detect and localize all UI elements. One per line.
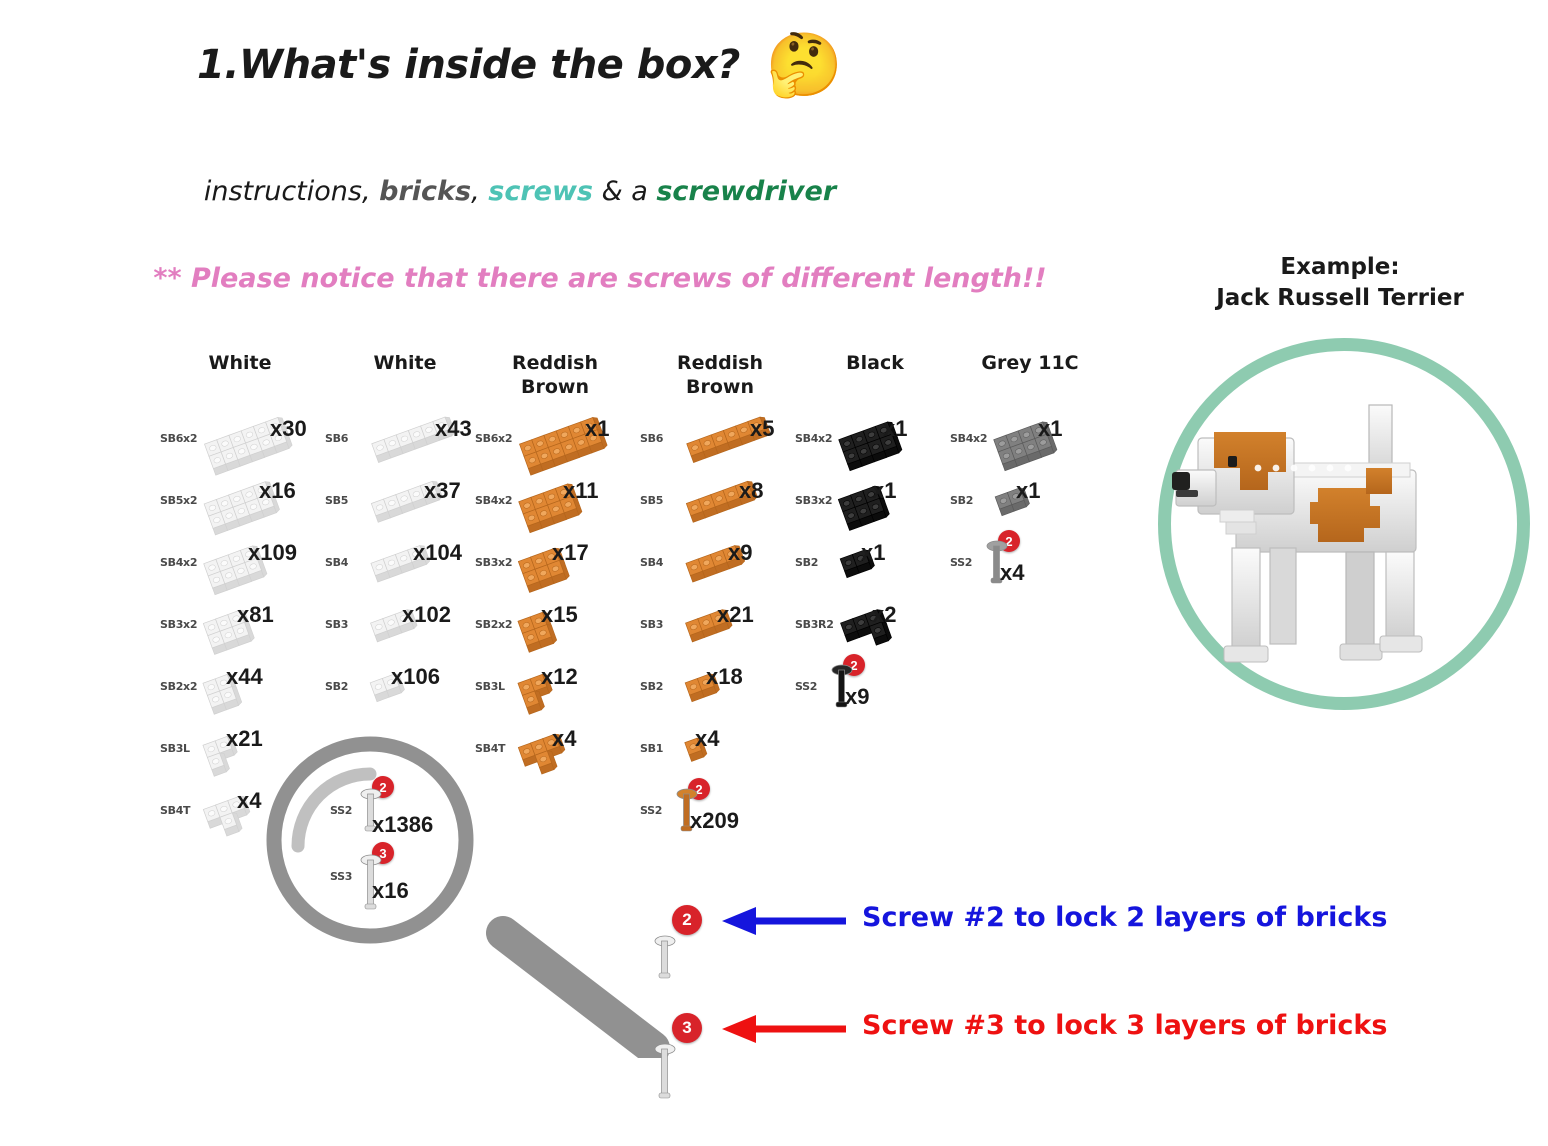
column-header-6: Grey 11C — [940, 352, 1120, 376]
title-row: 1.What's inside the box? 🤔 — [0, 34, 1040, 96]
part-quantity: x2 — [872, 602, 896, 628]
part-quantity: x30 — [270, 416, 307, 442]
column-header-1: White — [150, 352, 330, 376]
part-quantity: x4 — [552, 726, 576, 752]
part-code: SB3L — [475, 680, 505, 693]
column-header-3: Reddish Brown — [465, 352, 645, 400]
legend-badge: 2 — [672, 905, 702, 935]
part-quantity: x104 — [413, 540, 462, 566]
part-quantity: x102 — [402, 602, 451, 628]
legend-badge: 3 — [672, 1013, 702, 1043]
part-quantity: x21 — [717, 602, 754, 628]
part-quantity: x9 — [728, 540, 752, 566]
part-quantity: x43 — [435, 416, 472, 442]
part-code: SB6 — [325, 432, 348, 445]
part-quantity: x4 — [1000, 560, 1024, 586]
legend-arrow-icon — [718, 1015, 848, 1050]
part-quantity: x5 — [750, 416, 774, 442]
part-quantity: x4 — [237, 788, 261, 814]
part-quantity: x17 — [552, 540, 589, 566]
part-code: SS2 — [640, 804, 662, 817]
part-code: SS2 — [950, 556, 972, 569]
part-code: SB2 — [795, 556, 818, 569]
legend-screw-icon — [652, 1041, 678, 1106]
part-quantity: x1386 — [372, 812, 433, 838]
legend-arrow-icon — [718, 907, 848, 942]
part-quantity: x16 — [372, 878, 409, 904]
legend-screw-icon — [652, 933, 678, 986]
part-quantity: x81 — [237, 602, 274, 628]
part-code: SB2 — [325, 680, 348, 693]
page-title: 1.What's inside the box? — [197, 42, 740, 88]
part-quantity: x8 — [739, 478, 763, 504]
part-quantity: x11 — [563, 478, 599, 504]
magnifier-glass-icon — [258, 728, 678, 1058]
part-code: SS3 — [330, 870, 352, 883]
part-code: SB6 — [640, 432, 663, 445]
subtitle-bricks: bricks — [379, 176, 471, 207]
part-code: SB3 — [325, 618, 348, 631]
part-code: SB2 — [640, 680, 663, 693]
column-header-line2: Brown — [465, 376, 645, 400]
part-quantity: x1 — [1038, 416, 1062, 442]
column-header-line2: Brown — [630, 376, 810, 400]
column-header-line1: Reddish — [465, 352, 645, 376]
part-code: SS2 — [795, 680, 817, 693]
part-code: SB4T — [475, 742, 505, 755]
example-heading: Example: Jack Russell Terrier — [1140, 252, 1540, 314]
part-quantity: x9 — [845, 684, 869, 710]
part-code: SB5 — [325, 494, 348, 507]
thinking-face-emoji: 🤔 — [766, 34, 843, 96]
part-code: SB3L — [160, 742, 190, 755]
part-code: SB1 — [640, 742, 663, 755]
part-quantity: x1 — [585, 416, 609, 442]
part-quantity: x4 — [695, 726, 719, 752]
part-quantity: x37 — [424, 478, 461, 504]
part-quantity: x109 — [248, 540, 297, 566]
part-quantity: x16 — [259, 478, 296, 504]
column-header-line1: Reddish — [630, 352, 810, 376]
part-code: SS2 — [330, 804, 352, 817]
column-header-5: Black — [785, 352, 965, 376]
part-quantity: x12 — [541, 664, 578, 690]
subtitle-ampersand: & a — [602, 176, 648, 207]
part-code: SB5 — [640, 494, 663, 507]
part-quantity: x106 — [391, 664, 440, 690]
legend-label: Screw #3 to lock 3 layers of bricks — [862, 1010, 1387, 1041]
part-code: SB2 — [950, 494, 973, 507]
subtitle-screws: screws — [488, 176, 593, 207]
part-code: SB4T — [160, 804, 190, 817]
subtitle-comma: , — [471, 176, 480, 207]
example-breed-name: Jack Russell Terrier — [1140, 283, 1540, 314]
part-quantity: x1 — [883, 416, 907, 442]
part-quantity: x1 — [872, 478, 896, 504]
subtitle-instructions: instructions, — [204, 176, 371, 207]
part-quantity: x21 — [226, 726, 263, 752]
part-code: SB4 — [325, 556, 348, 569]
screw-length-warning: ** Please notice that there are screws o… — [0, 263, 1200, 294]
part-quantity: x1 — [1016, 478, 1040, 504]
legend-label: Screw #2 to lock 2 layers of bricks — [862, 902, 1387, 933]
column-header-4: Reddish Brown — [630, 352, 810, 400]
part-quantity: x209 — [690, 808, 739, 834]
subtitle: instructions, bricks, screws & a screwdr… — [0, 176, 1040, 207]
subtitle-screwdriver: screwdriver — [656, 176, 836, 207]
part-quantity: x1 — [861, 540, 885, 566]
part-quantity: x18 — [706, 664, 743, 690]
part-quantity: x15 — [541, 602, 578, 628]
part-code: SB4 — [640, 556, 663, 569]
part-code: SB3 — [640, 618, 663, 631]
jack-russell-terrier-figure — [1170, 360, 1520, 690]
example-label: Example: — [1140, 252, 1540, 283]
part-quantity: x44 — [226, 664, 263, 690]
